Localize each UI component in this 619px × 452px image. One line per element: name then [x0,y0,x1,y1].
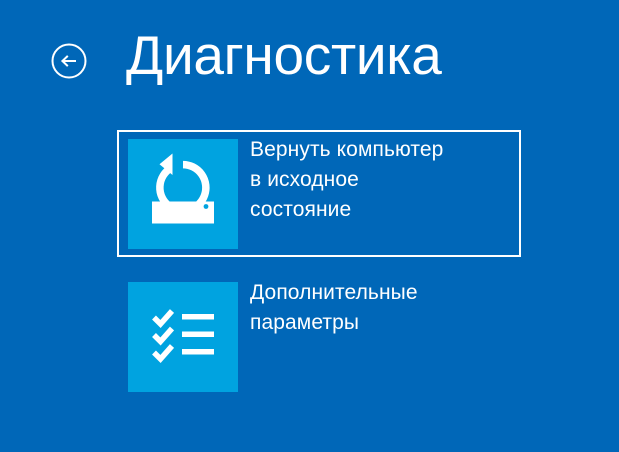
back-button[interactable] [50,42,88,80]
option-label: Дополнительные параметры [250,278,519,338]
option-advanced-options[interactable]: Дополнительные параметры [117,273,521,400]
option-reset-pc[interactable]: Вернуть компьютер в исходное состояние [117,130,521,257]
option-tile [128,282,238,392]
recovery-screen: Диагностика Вернуть компьютер [0,0,619,452]
option-label: Вернуть компьютер в исходное состояние [250,135,519,225]
screen-header: Диагностика [0,0,619,120]
option-tile [128,139,238,249]
page-title: Диагностика [126,22,442,88]
back-arrow-circle-icon [50,42,88,80]
